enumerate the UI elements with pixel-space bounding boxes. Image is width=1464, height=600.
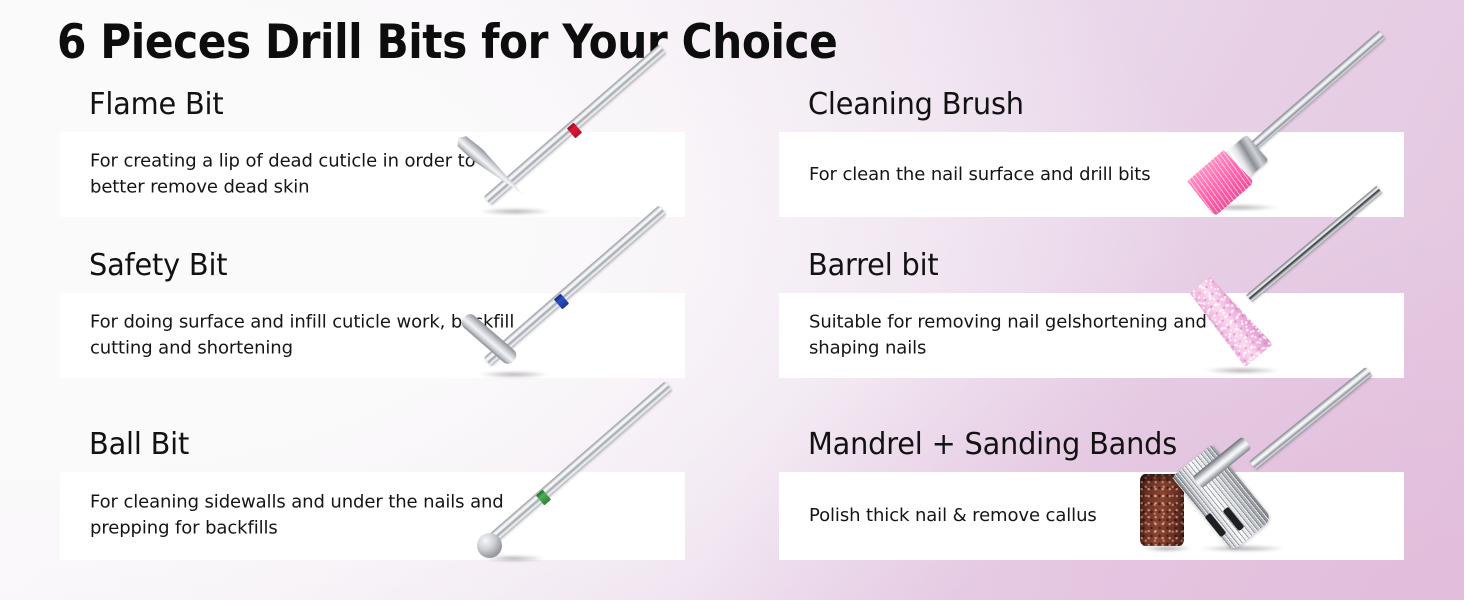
product-card-flame-bit: Flame Bit For creating a lip of dead cut… — [60, 88, 685, 217]
card-description: For creating a lip of dead cuticle in or… — [90, 148, 520, 201]
mandrel-sanding-bands-photo — [1126, 382, 1396, 562]
card-body: Suitable for removing nail gelshortening… — [779, 293, 1404, 378]
brush-handle — [1235, 31, 1385, 163]
card-body: For doing surface and infill cuticle wor… — [60, 293, 685, 378]
drill-shank — [490, 381, 672, 542]
product-shadow — [1204, 367, 1280, 374]
card-body: Polish thick nail & remove callus — [779, 472, 1404, 560]
product-shadow — [479, 371, 549, 378]
product-card-ball-bit: Ball Bit For cleaning sidewalls and unde… — [60, 428, 685, 560]
mandrel-shank — [1249, 367, 1372, 470]
infographic-page: 6 Pieces Drill Bits for Your Choice Flam… — [0, 0, 1464, 600]
product-card-barrel-bit: Barrel bit Suitable for removing nail ge… — [779, 249, 1404, 378]
card-description: Polish thick nail & remove callus — [809, 503, 1097, 529]
ball-tip — [477, 533, 502, 558]
card-description: For clean the nail surface and drill bit… — [809, 161, 1151, 187]
barrel-bit-photo — [1190, 202, 1380, 382]
product-card-cleaning-brush: Cleaning Brush For clean the nail surfac… — [779, 88, 1404, 217]
ball-bit-photo — [477, 381, 687, 566]
product-card-safety-bit: Safety Bit For doing surface and infill … — [60, 249, 685, 378]
safety-bit-photo — [477, 199, 687, 384]
product-card-mandrel-sanding-bands: Mandrel + Sanding Bands Polish thick nai… — [779, 428, 1404, 560]
drill-shank — [1246, 186, 1382, 302]
card-description: Suitable for removing nail gelshortening… — [809, 309, 1239, 362]
sanding-band-shadow — [1142, 545, 1192, 552]
mandrel-shadow — [1200, 545, 1286, 552]
card-body: For cleaning sidewalls and under the nai… — [60, 472, 685, 560]
card-description: For doing surface and infill cuticle wor… — [90, 309, 520, 362]
card-description: For cleaning sidewalls and under the nai… — [90, 490, 520, 543]
flame-bit-photo — [477, 38, 687, 223]
drill-shank — [484, 205, 666, 366]
page-title: 6 Pieces Drill Bits for Your Choice — [57, 15, 837, 70]
